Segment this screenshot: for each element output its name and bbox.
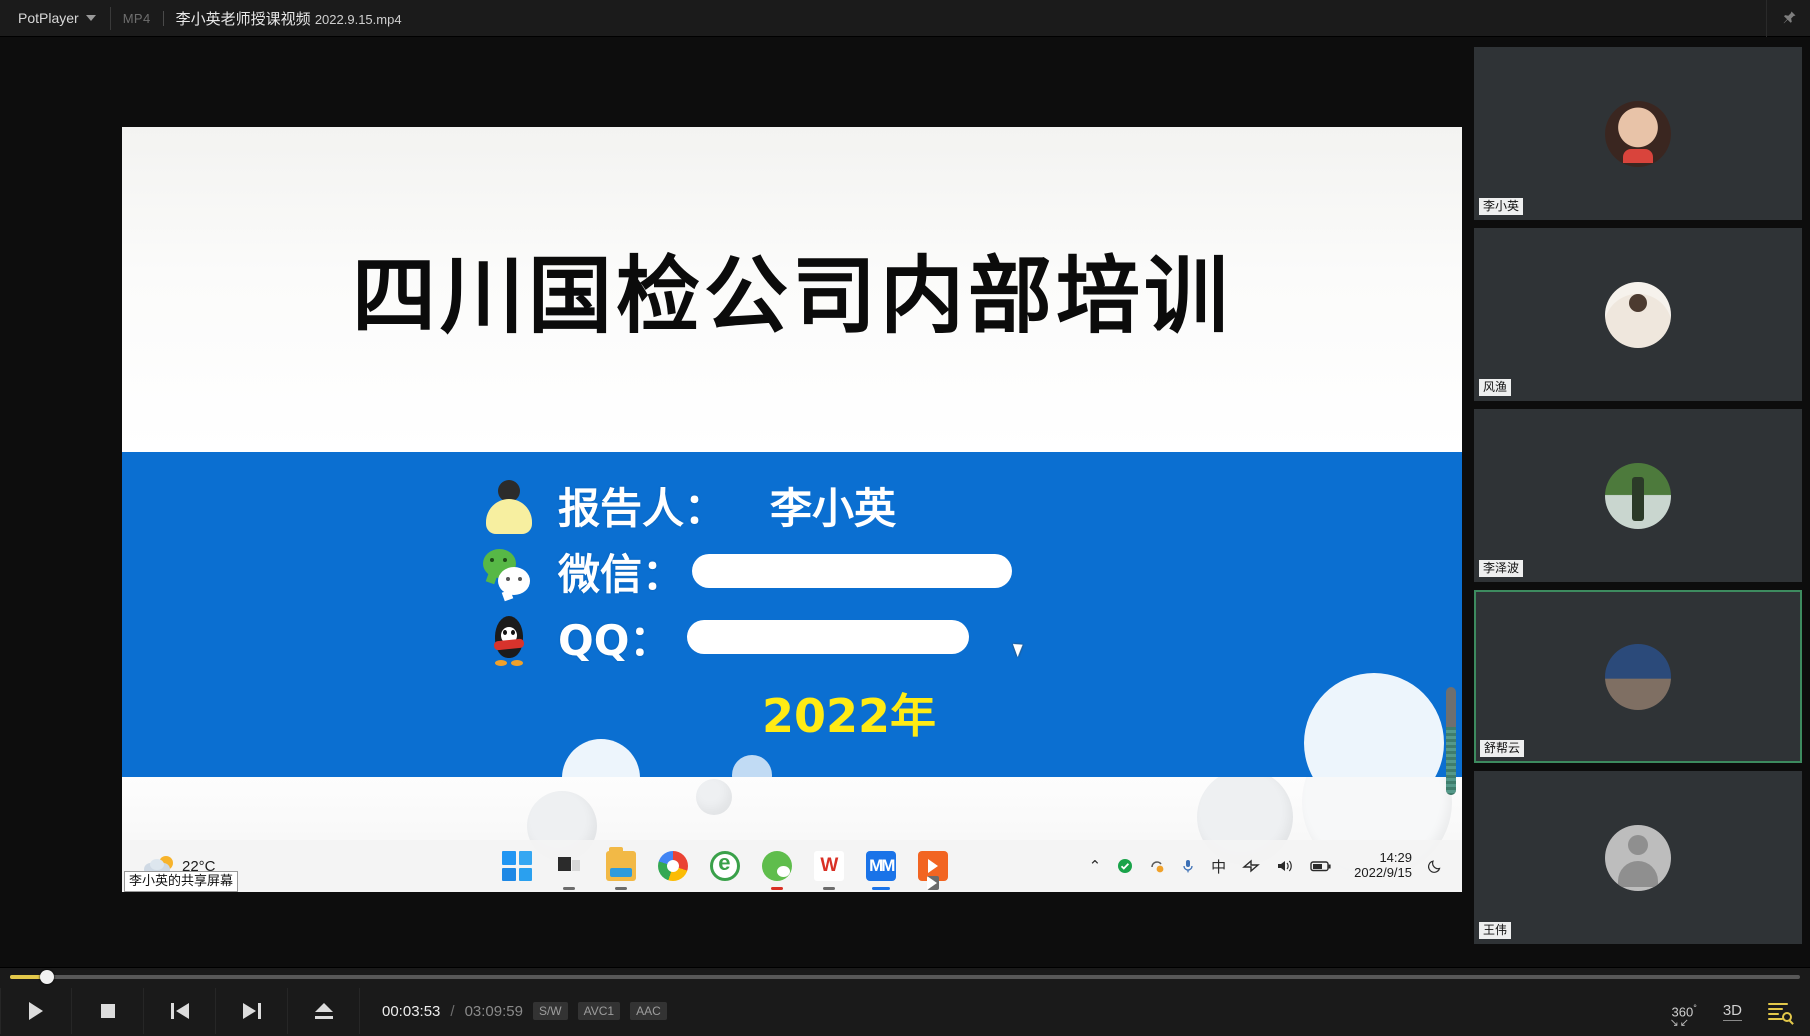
wps-office-icon[interactable]: W: [814, 851, 844, 881]
file-name-text: 2022.9.15.mp4: [315, 12, 402, 27]
participant-rail: 李小英 风渔 李泽波 舒帮云 王伟: [1466, 37, 1810, 967]
participant-tile-1[interactable]: 风渔: [1474, 228, 1802, 401]
seek-bar[interactable]: [10, 975, 1800, 979]
current-time: 00:03:53: [382, 1003, 440, 1020]
stereoscopic-3d-button[interactable]: 3D: [1723, 1002, 1742, 1021]
title-bar: PotPlayer MP4 李小英老师授课视频 2022.9.15.mp4: [0, 0, 1810, 37]
decorative-bubble: [732, 755, 772, 777]
person-icon: [482, 480, 536, 534]
titlebar-right-group: [1766, 0, 1810, 37]
qq-value-redacted: [687, 620, 969, 654]
next-button[interactable]: [216, 988, 288, 1034]
audio-codec-tag: AAC: [630, 1002, 667, 1020]
seek-handle[interactable]: [40, 970, 54, 984]
share-screen-label: 李小英的共享屏幕: [124, 871, 238, 892]
taskbar-icon-group: W MM: [502, 851, 948, 881]
participant-name: 风渔: [1479, 379, 1511, 396]
next-icon: [243, 1003, 261, 1019]
file-title: 李小英老师授课视频 2022.9.15.mp4: [164, 8, 402, 29]
potplayer-window: PotPlayer MP4 李小英老师授课视频 2022.9.15.mp4 四川…: [0, 0, 1810, 1036]
play-icon: [29, 1002, 43, 1020]
contact-row-qq: QQ：: [558, 606, 1012, 668]
shared-screen-video[interactable]: 四川国检公司内部培训: [122, 127, 1462, 892]
contact-row-presenter: 报告人： 李小英: [558, 474, 1012, 536]
battery-icon[interactable]: [1310, 859, 1332, 873]
presenter-label: 报告人：: [558, 475, 726, 536]
participant-name: 李小英: [1479, 198, 1523, 215]
presenter-value: 李小英: [770, 475, 896, 536]
decorative-bubble: [696, 779, 732, 815]
chevron-down-icon[interactable]: [86, 15, 96, 21]
app-menu-button[interactable]: PotPlayer: [0, 0, 110, 37]
slide-year: 2022年: [762, 680, 936, 746]
app-name-label: PotPlayer: [18, 10, 79, 26]
contact-icon-column: [482, 474, 536, 668]
contact-block: 报告人： 李小英 微信： QQ：: [482, 474, 1012, 668]
wechat-value-redacted: [692, 554, 1012, 588]
decorative-bubble: [562, 739, 640, 777]
qq-label: QQ：: [558, 607, 671, 668]
media-player-icon[interactable]: [918, 851, 948, 881]
clock-date: 2022/9/15: [1354, 866, 1412, 881]
ime-chinese-icon[interactable]: 中: [1211, 856, 1226, 877]
network-icon[interactable]: [1242, 858, 1260, 874]
decoder-tag: S/W: [533, 1002, 568, 1020]
seek-bar-wrapper[interactable]: [0, 968, 1810, 988]
internet-explorer-icon[interactable]: [710, 851, 740, 881]
chrome-icon[interactable]: [658, 851, 688, 881]
slide-contact-band: 报告人： 李小英 微信： QQ： 2022年: [122, 452, 1462, 777]
file-explorer-icon[interactable]: [606, 851, 636, 881]
taskbar-clock[interactable]: 14:29 2022/9/15: [1348, 851, 1412, 881]
windows-taskbar: 22°C 多云 李小英的共享屏幕 W MM: [122, 840, 1462, 892]
stop-icon: [101, 1004, 115, 1018]
wechat-icon: [482, 547, 536, 601]
wechat-icon[interactable]: [762, 851, 792, 881]
participant-tile-0[interactable]: 李小英: [1474, 47, 1802, 220]
page-title: 四川国检公司内部培训: [352, 229, 1232, 350]
decorative-bubble: [1304, 673, 1444, 777]
avatar: [1605, 282, 1671, 348]
avatar: [1605, 463, 1671, 529]
degree-symbol: °: [1693, 1003, 1697, 1013]
previous-button[interactable]: [144, 988, 216, 1034]
participant-name: 舒帮云: [1480, 740, 1524, 757]
total-time: 03:09:59: [465, 1003, 523, 1020]
weather-widget[interactable]: 22°C 多云 李小英的共享屏幕: [122, 856, 362, 876]
blue-app-icon[interactable]: MM: [866, 851, 896, 881]
sync-icon[interactable]: [1149, 858, 1165, 874]
right-control-group: 360° ↘↙ 3D: [1672, 1002, 1810, 1021]
wechat-label: 微信：: [558, 541, 684, 602]
security-icon[interactable]: [1117, 858, 1133, 874]
file-title-text: 李小英老师授课视频: [176, 11, 311, 28]
contact-lines: 报告人： 李小英 微信： QQ：: [558, 474, 1012, 668]
pin-icon[interactable]: [1766, 0, 1810, 37]
avatar: [1605, 825, 1671, 891]
clock-time: 14:29: [1354, 851, 1412, 866]
video-codec-tag: AVC1: [578, 1002, 620, 1020]
time-separator: /: [450, 1003, 454, 1020]
file-format-label: MP4: [111, 11, 163, 26]
slide-title-band: 四川国检公司内部培训: [122, 127, 1462, 452]
video-stage[interactable]: 四川国检公司内部培训: [0, 37, 1466, 967]
time-display: 00:03:53 / 03:09:59 S/W AVC1 AAC: [360, 1002, 667, 1020]
contact-row-wechat: 微信：: [558, 540, 1012, 602]
previous-icon: [171, 1003, 189, 1019]
control-row: 00:03:53 / 03:09:59 S/W AVC1 AAC 360° ↘↙…: [0, 988, 1810, 1034]
eject-button[interactable]: [288, 988, 360, 1034]
participant-tile-2[interactable]: 李泽波: [1474, 409, 1802, 582]
participant-tile-4[interactable]: 王伟: [1474, 771, 1802, 944]
vr-360-arrows-icon: ↘↙: [1670, 1016, 1690, 1029]
task-view-icon[interactable]: [554, 851, 584, 881]
moon-icon[interactable]: [1428, 858, 1444, 874]
participant-tile-3[interactable]: 舒帮云: [1474, 590, 1802, 763]
volume-icon[interactable]: [1276, 858, 1294, 874]
avatar: [1605, 644, 1671, 710]
vr-360-button[interactable]: 360° ↘↙: [1672, 1003, 1697, 1019]
chevron-up-icon[interactable]: ⌃: [1089, 857, 1102, 875]
eject-icon: [315, 1003, 333, 1019]
participant-name: 李泽波: [1479, 560, 1523, 577]
shared-screen-scrollbar[interactable]: [1446, 687, 1456, 795]
system-tray: ⌃ 中: [1089, 851, 1462, 881]
qq-icon: [482, 614, 536, 668]
participant-name: 王伟: [1479, 922, 1511, 939]
player-controls: 00:03:53 / 03:09:59 S/W AVC1 AAC 360° ↘↙…: [0, 967, 1810, 1036]
microphone-icon[interactable]: [1181, 858, 1195, 874]
stop-button[interactable]: [72, 988, 144, 1034]
windows-start-icon[interactable]: [502, 851, 532, 881]
avatar: [1605, 101, 1671, 167]
playlist-search-icon[interactable]: [1768, 1002, 1790, 1020]
play-button[interactable]: [0, 988, 72, 1034]
